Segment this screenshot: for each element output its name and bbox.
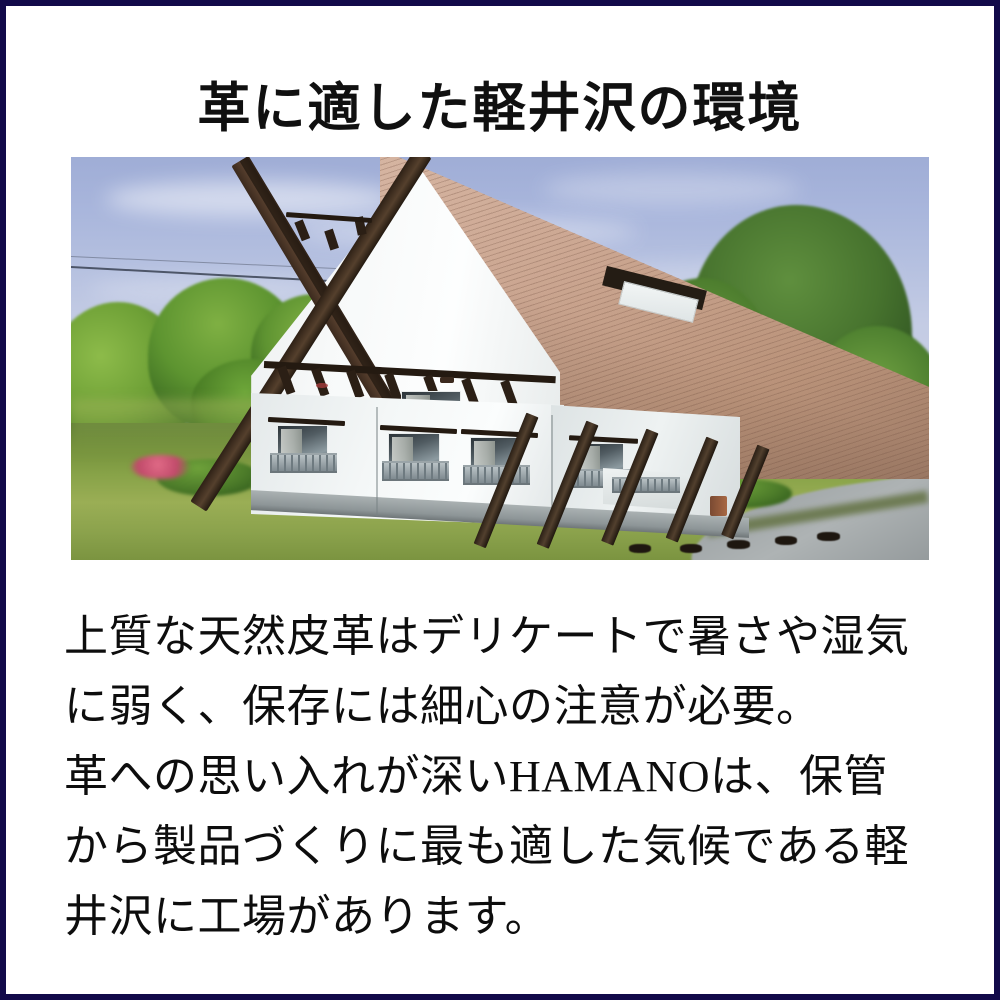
body-line: 上質な天然皮革はデリケートで暑さや湿気: [64, 602, 944, 672]
page-container: 革に適した軽井沢の環境: [0, 0, 1000, 1000]
support-footing: [680, 544, 702, 553]
support-footing: [727, 540, 749, 549]
window-railing: [270, 453, 337, 473]
body-line: に弱く、保存には細心の注意が必要。: [64, 672, 944, 742]
window-railing: [463, 465, 530, 485]
body-line: から製品づくりに最も適した気候である軽: [64, 812, 944, 882]
body-line: 革への思い入れが深いHAMANOは、保管: [64, 742, 944, 812]
support-footing: [817, 532, 839, 541]
body-paragraph: 上質な天然皮革はデリケートで暑さや湿気 に弱く、保存には細心の注意が必要。 革へ…: [64, 602, 944, 952]
wall-ornament: [316, 383, 328, 389]
wall-light: [440, 377, 454, 383]
support-footing: [775, 536, 797, 545]
factory-photo: [71, 157, 929, 560]
window-railing: [382, 461, 449, 481]
outdoor-bin: [710, 496, 727, 516]
wall-seam: [376, 407, 378, 516]
body-line: 井沢に工場があります。: [64, 882, 944, 952]
page-title: 革に適した軽井沢の環境: [6, 80, 994, 138]
support-footing: [629, 544, 651, 553]
